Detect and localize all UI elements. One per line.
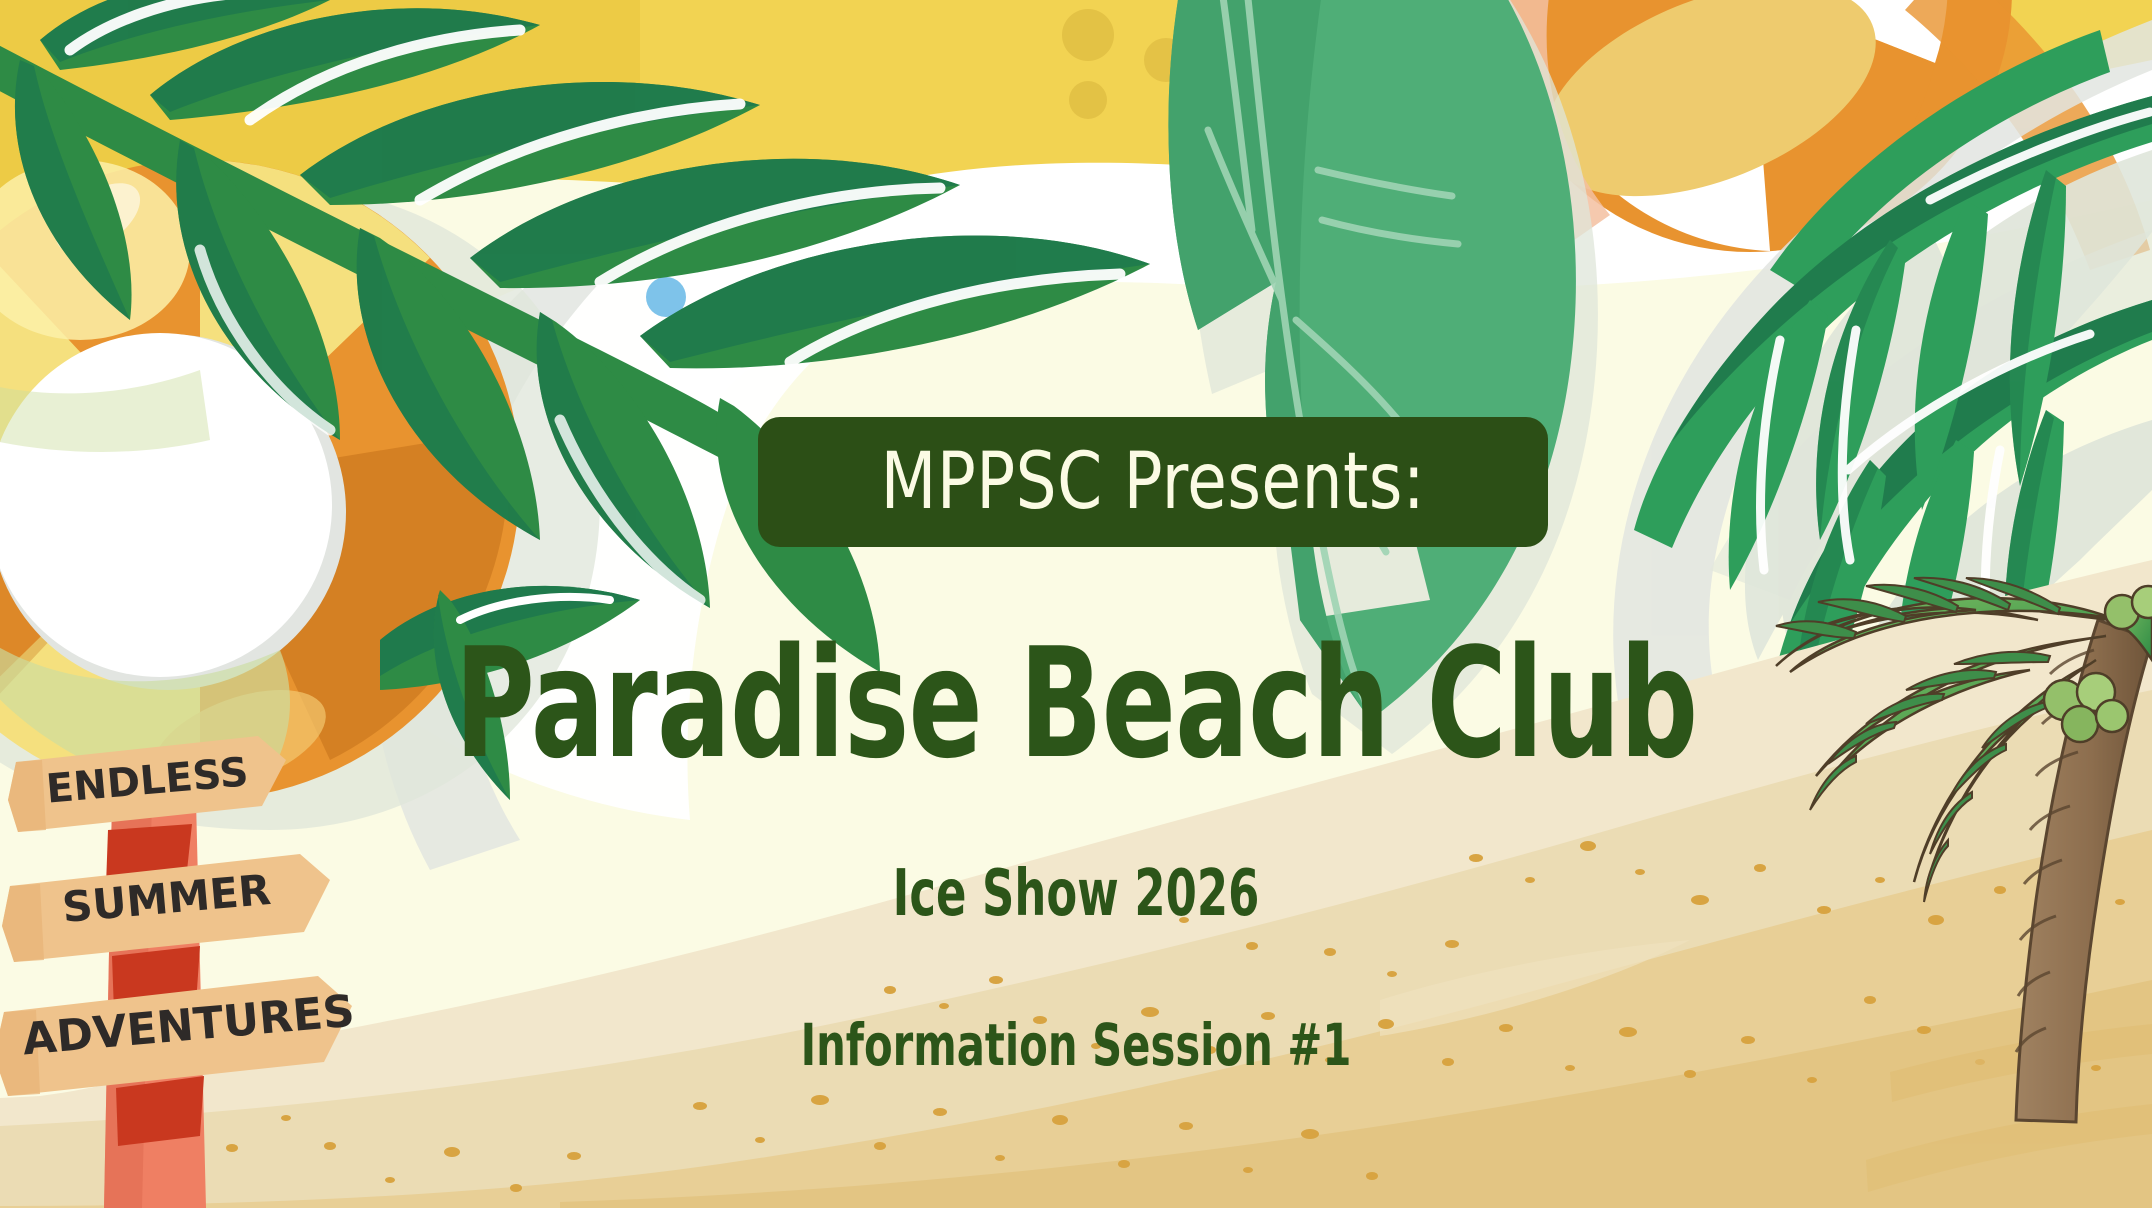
presenter-badge-label: MPPSC Presents: (881, 443, 1425, 521)
subtitle-event: Ice Show 2026 (237, 862, 1916, 926)
page-title: Paradise Beach Club (215, 628, 1937, 780)
slide-text-content: MPPSC Presents: Paradise Beach Club Ice … (0, 0, 2152, 1208)
presenter-badge: MPPSC Presents: (758, 417, 1548, 547)
subtitle-session: Information Session #1 (215, 1016, 1937, 1074)
presentation-slide: ENDLESS SUMMER ADVENTURES MPPSC Presents… (0, 0, 2152, 1208)
